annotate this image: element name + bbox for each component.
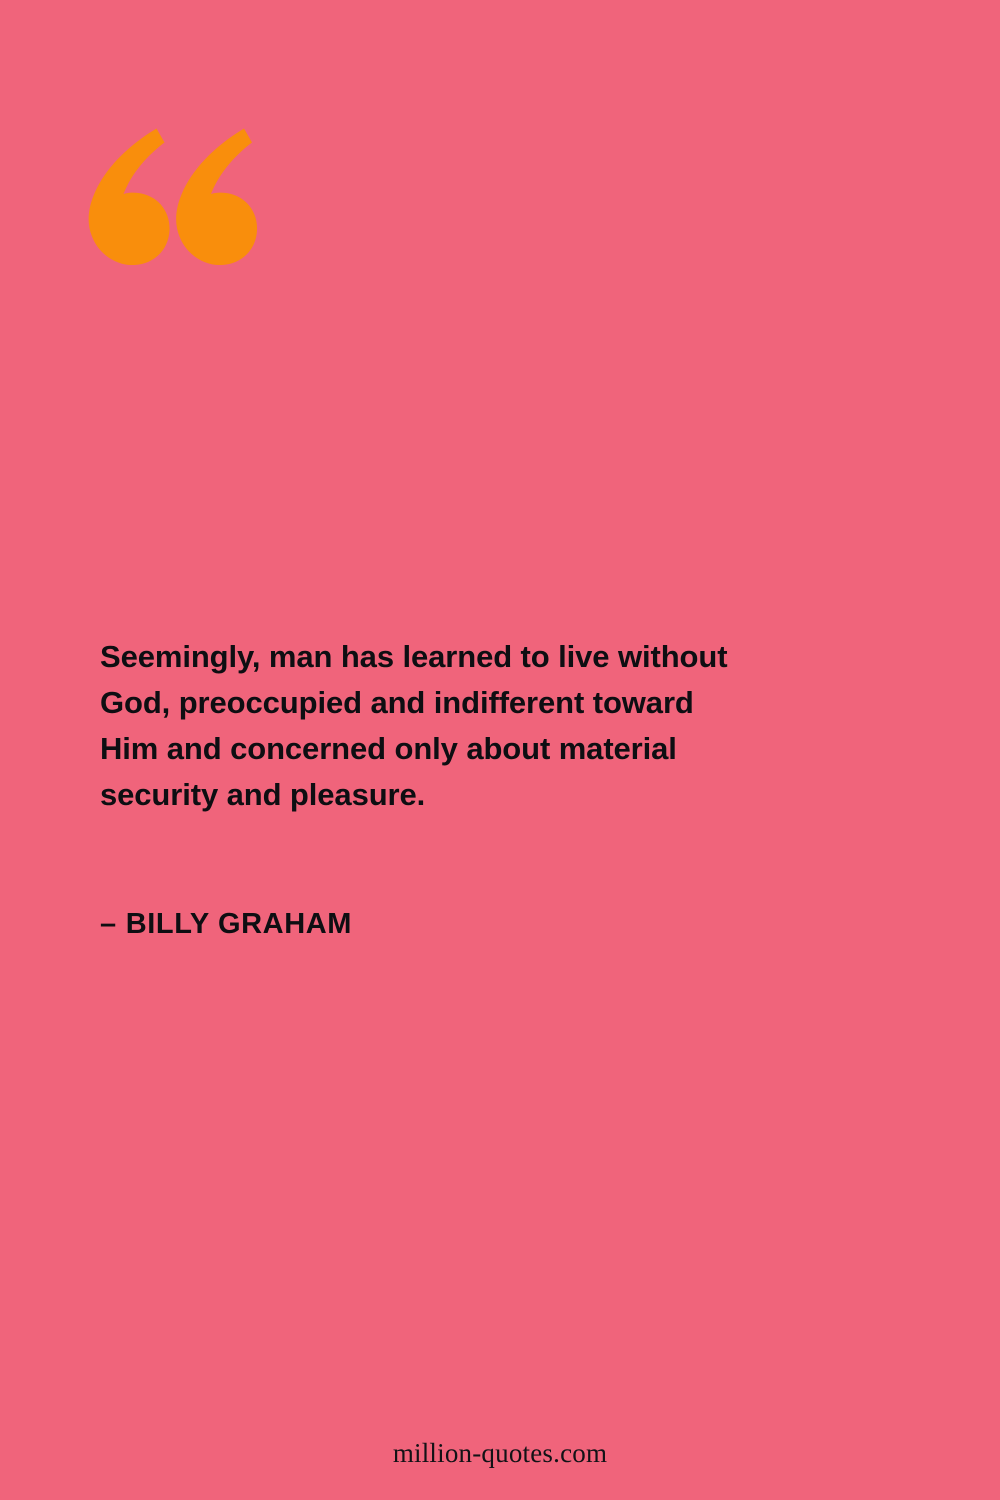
footer-site-name: million-quotes.com [393,1438,607,1468]
opening-double-quote-icon [86,126,256,276]
attribution-author-name: BILLY GRAHAM [126,908,352,941]
footer: million-quotes.com [0,1438,1000,1469]
quote-card: Seemingly, man has learned to live witho… [0,0,1000,1500]
attribution-dash: – [100,908,117,941]
quote-body: Seemingly, man has learned to live witho… [100,634,800,818]
quote-attribution: – BILLY GRAHAM [100,908,352,941]
quote-text: Seemingly, man has learned to live witho… [100,634,800,818]
